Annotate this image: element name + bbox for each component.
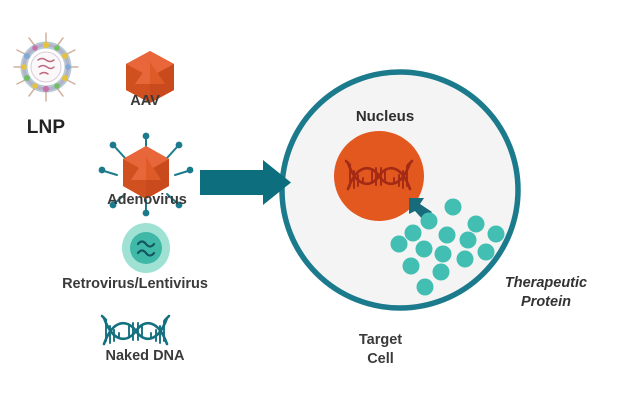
therapeutic-protein-label-line2: Protein [478, 293, 614, 312]
therapeutic-protein-label-line1: Therapeutic [478, 274, 614, 293]
dna-helix-icon [102, 316, 169, 344]
vector-label-naked-dna: Naked DNA [60, 349, 230, 364]
vector-label-adenovirus: Adenovirus [72, 193, 222, 208]
vector-label-aav: AAV [90, 94, 200, 109]
nucleus-label: Nucleus [330, 108, 440, 125]
retrovirus-icon [122, 223, 170, 273]
therapeutic-protein-label: Therapeutic Protein [478, 274, 614, 312]
diagram-canvas: LNP AAV Adenovirus Retrovirus/Lentivirus… [0, 0, 618, 405]
lipid-nanoparticle-icon [14, 33, 78, 101]
target-cell-label-line2: Cell [318, 350, 443, 369]
vector-label-retrovirus-lentivirus: Retrovirus/Lentivirus [10, 277, 260, 292]
vector-label-lnp: LNP [0, 117, 92, 139]
target-cell-label-line1: Target [318, 331, 443, 350]
target-cell-label: Target Cell [318, 331, 443, 369]
